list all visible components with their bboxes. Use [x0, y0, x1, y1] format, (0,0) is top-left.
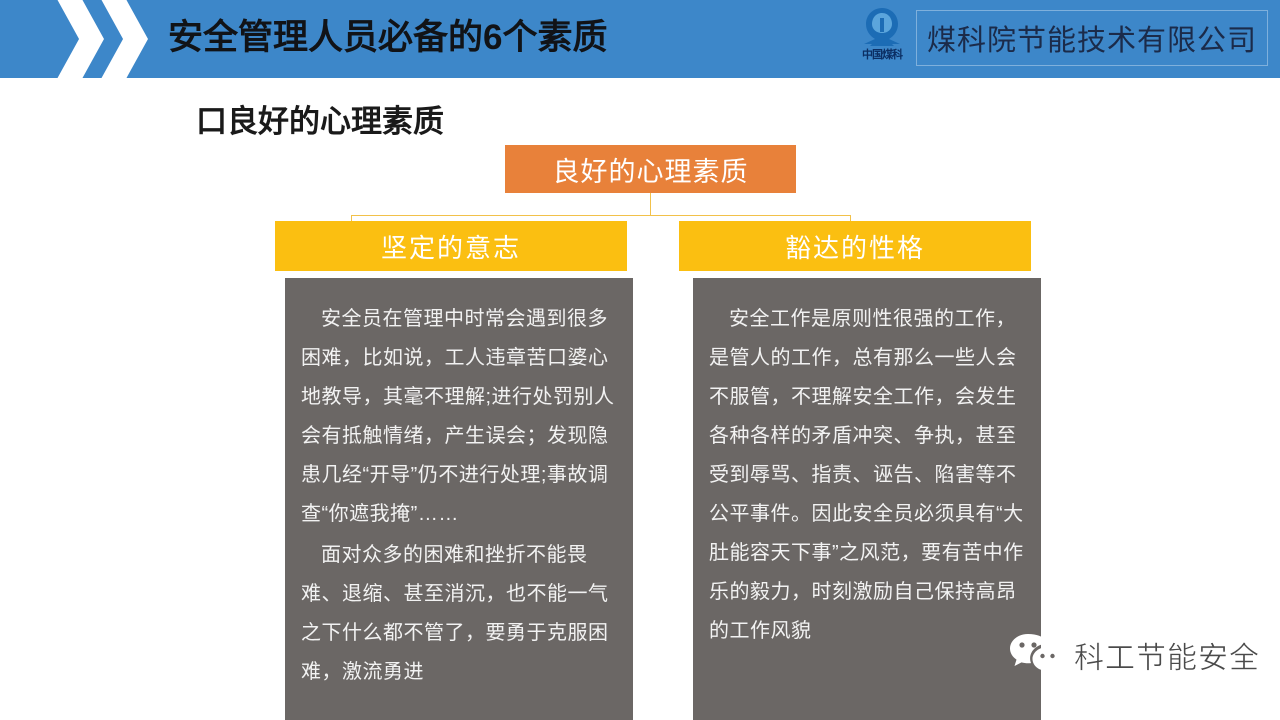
- diagram-branch-body-right: 安全工作是原则性很强的工作，是管人的工作，总有那么一些人会不服管，不理解安全工作…: [693, 278, 1041, 720]
- diagram-root-node: 良好的心理素质: [505, 145, 796, 193]
- connector-line-horizontal: [351, 215, 851, 216]
- diagram-branch-body-left: 安全员在管理中时常会遇到很多困难，比如说，工人违章苦口婆心地教导，其毫不理解;进…: [285, 278, 633, 720]
- connector-line-vertical: [650, 193, 651, 216]
- watermark: 科工节能安全: [1008, 630, 1260, 680]
- diagram-branch-header-left: 坚定的意志: [275, 221, 627, 271]
- diagram-branch-header-right: 豁达的性格: [679, 221, 1031, 271]
- branch-paragraph: 面对众多的困难和挫折不能畏难、退缩、甚至消沉，也不能一气之下什么都不管了，要勇于…: [301, 536, 617, 692]
- org-diagram: 良好的心理素质 坚定的意志 豁达的性格 安全员在管理中时常会遇到很多困难，比如说…: [0, 0, 1280, 720]
- watermark-label: 科工节能安全: [1074, 633, 1260, 677]
- diagram-branch-label: 坚定的意志: [381, 228, 521, 265]
- branch-paragraph: 安全工作是原则性很强的工作，是管人的工作，总有那么一些人会不服管，不理解安全工作…: [709, 300, 1025, 651]
- wechat-icon: [1008, 630, 1064, 680]
- diagram-root-label: 良好的心理素质: [553, 150, 749, 189]
- diagram-branch-label: 豁达的性格: [785, 228, 925, 265]
- branch-paragraph: 安全员在管理中时常会遇到很多困难，比如说，工人违章苦口婆心地教导，其毫不理解;进…: [301, 300, 617, 534]
